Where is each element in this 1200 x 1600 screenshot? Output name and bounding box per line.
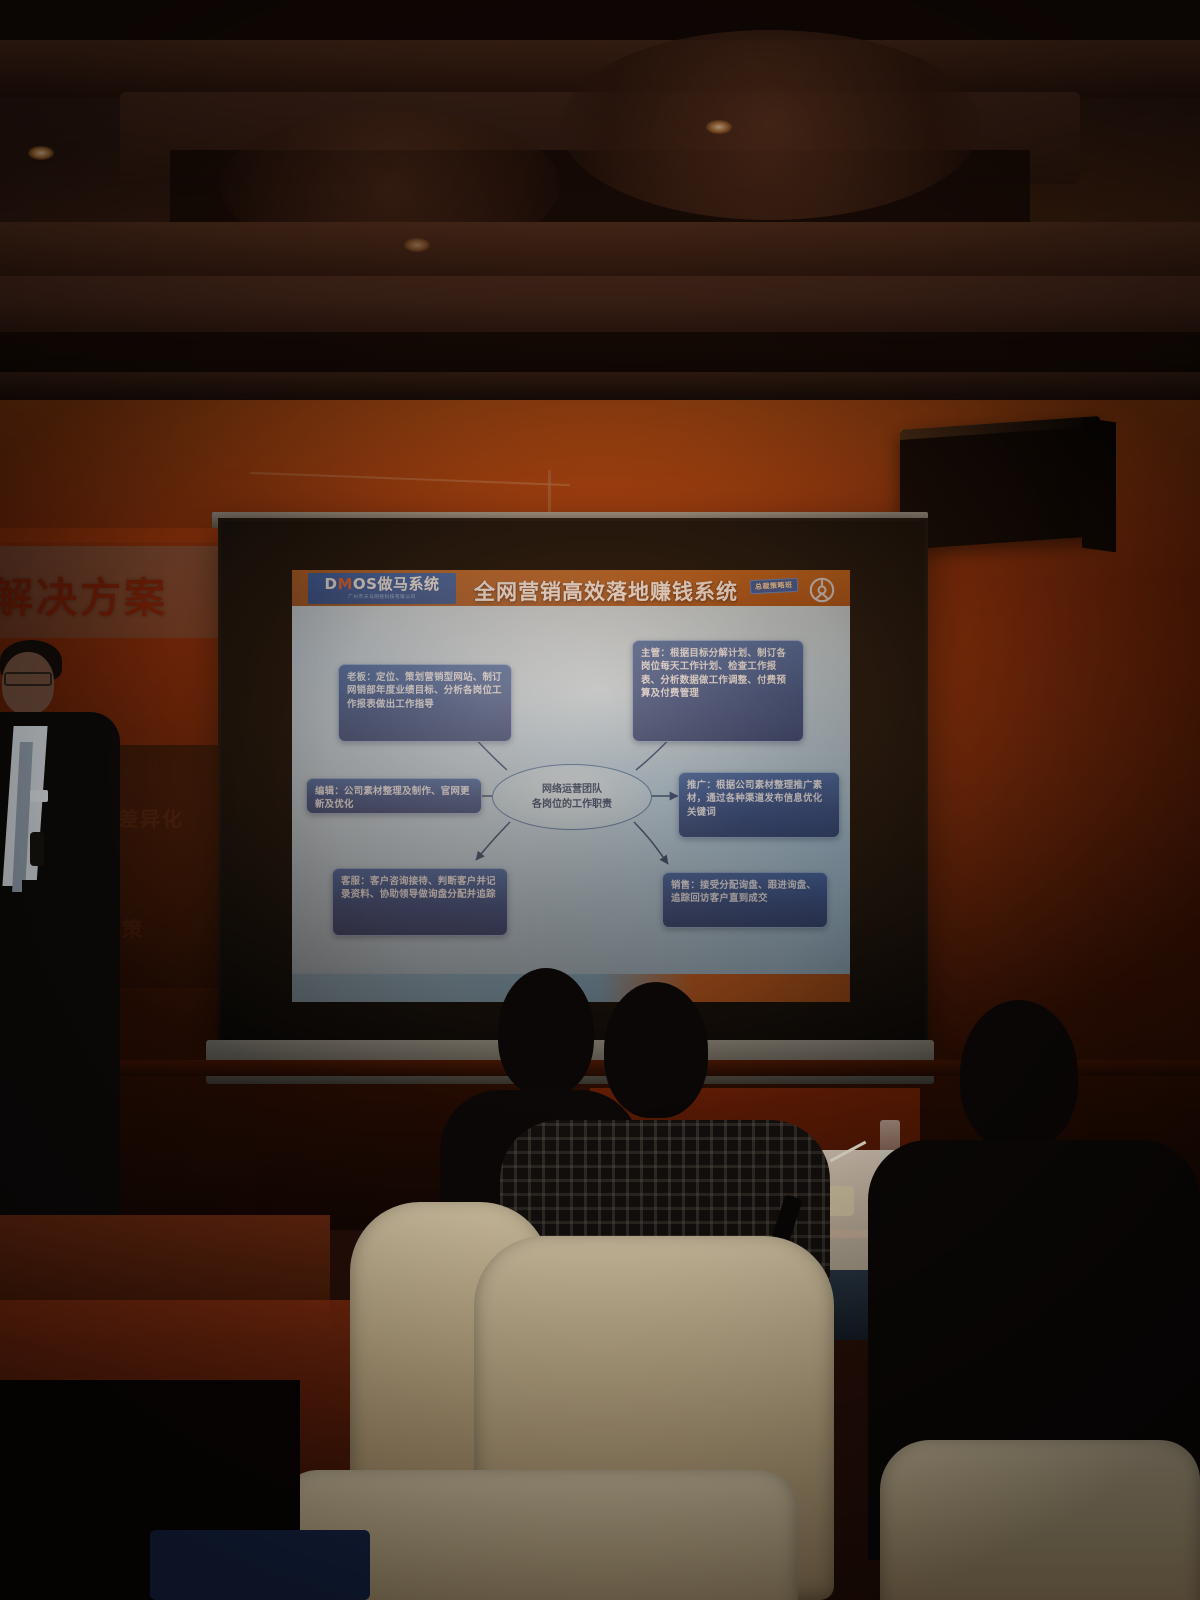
glasses-icon [4,672,52,686]
name-tag [30,790,48,802]
microphone [30,832,44,866]
downlight-icon [404,238,430,252]
wall-vignette [0,400,1200,1230]
downlight-icon [28,146,54,160]
carpet [0,1300,360,1480]
photo-scene: 解决方案 差异化 定位策 DMOS做马系统 广州市天马网络科技有限公司 全网营销… [0,0,1200,1600]
ceiling [0,0,1200,420]
downlight-icon [706,120,732,134]
